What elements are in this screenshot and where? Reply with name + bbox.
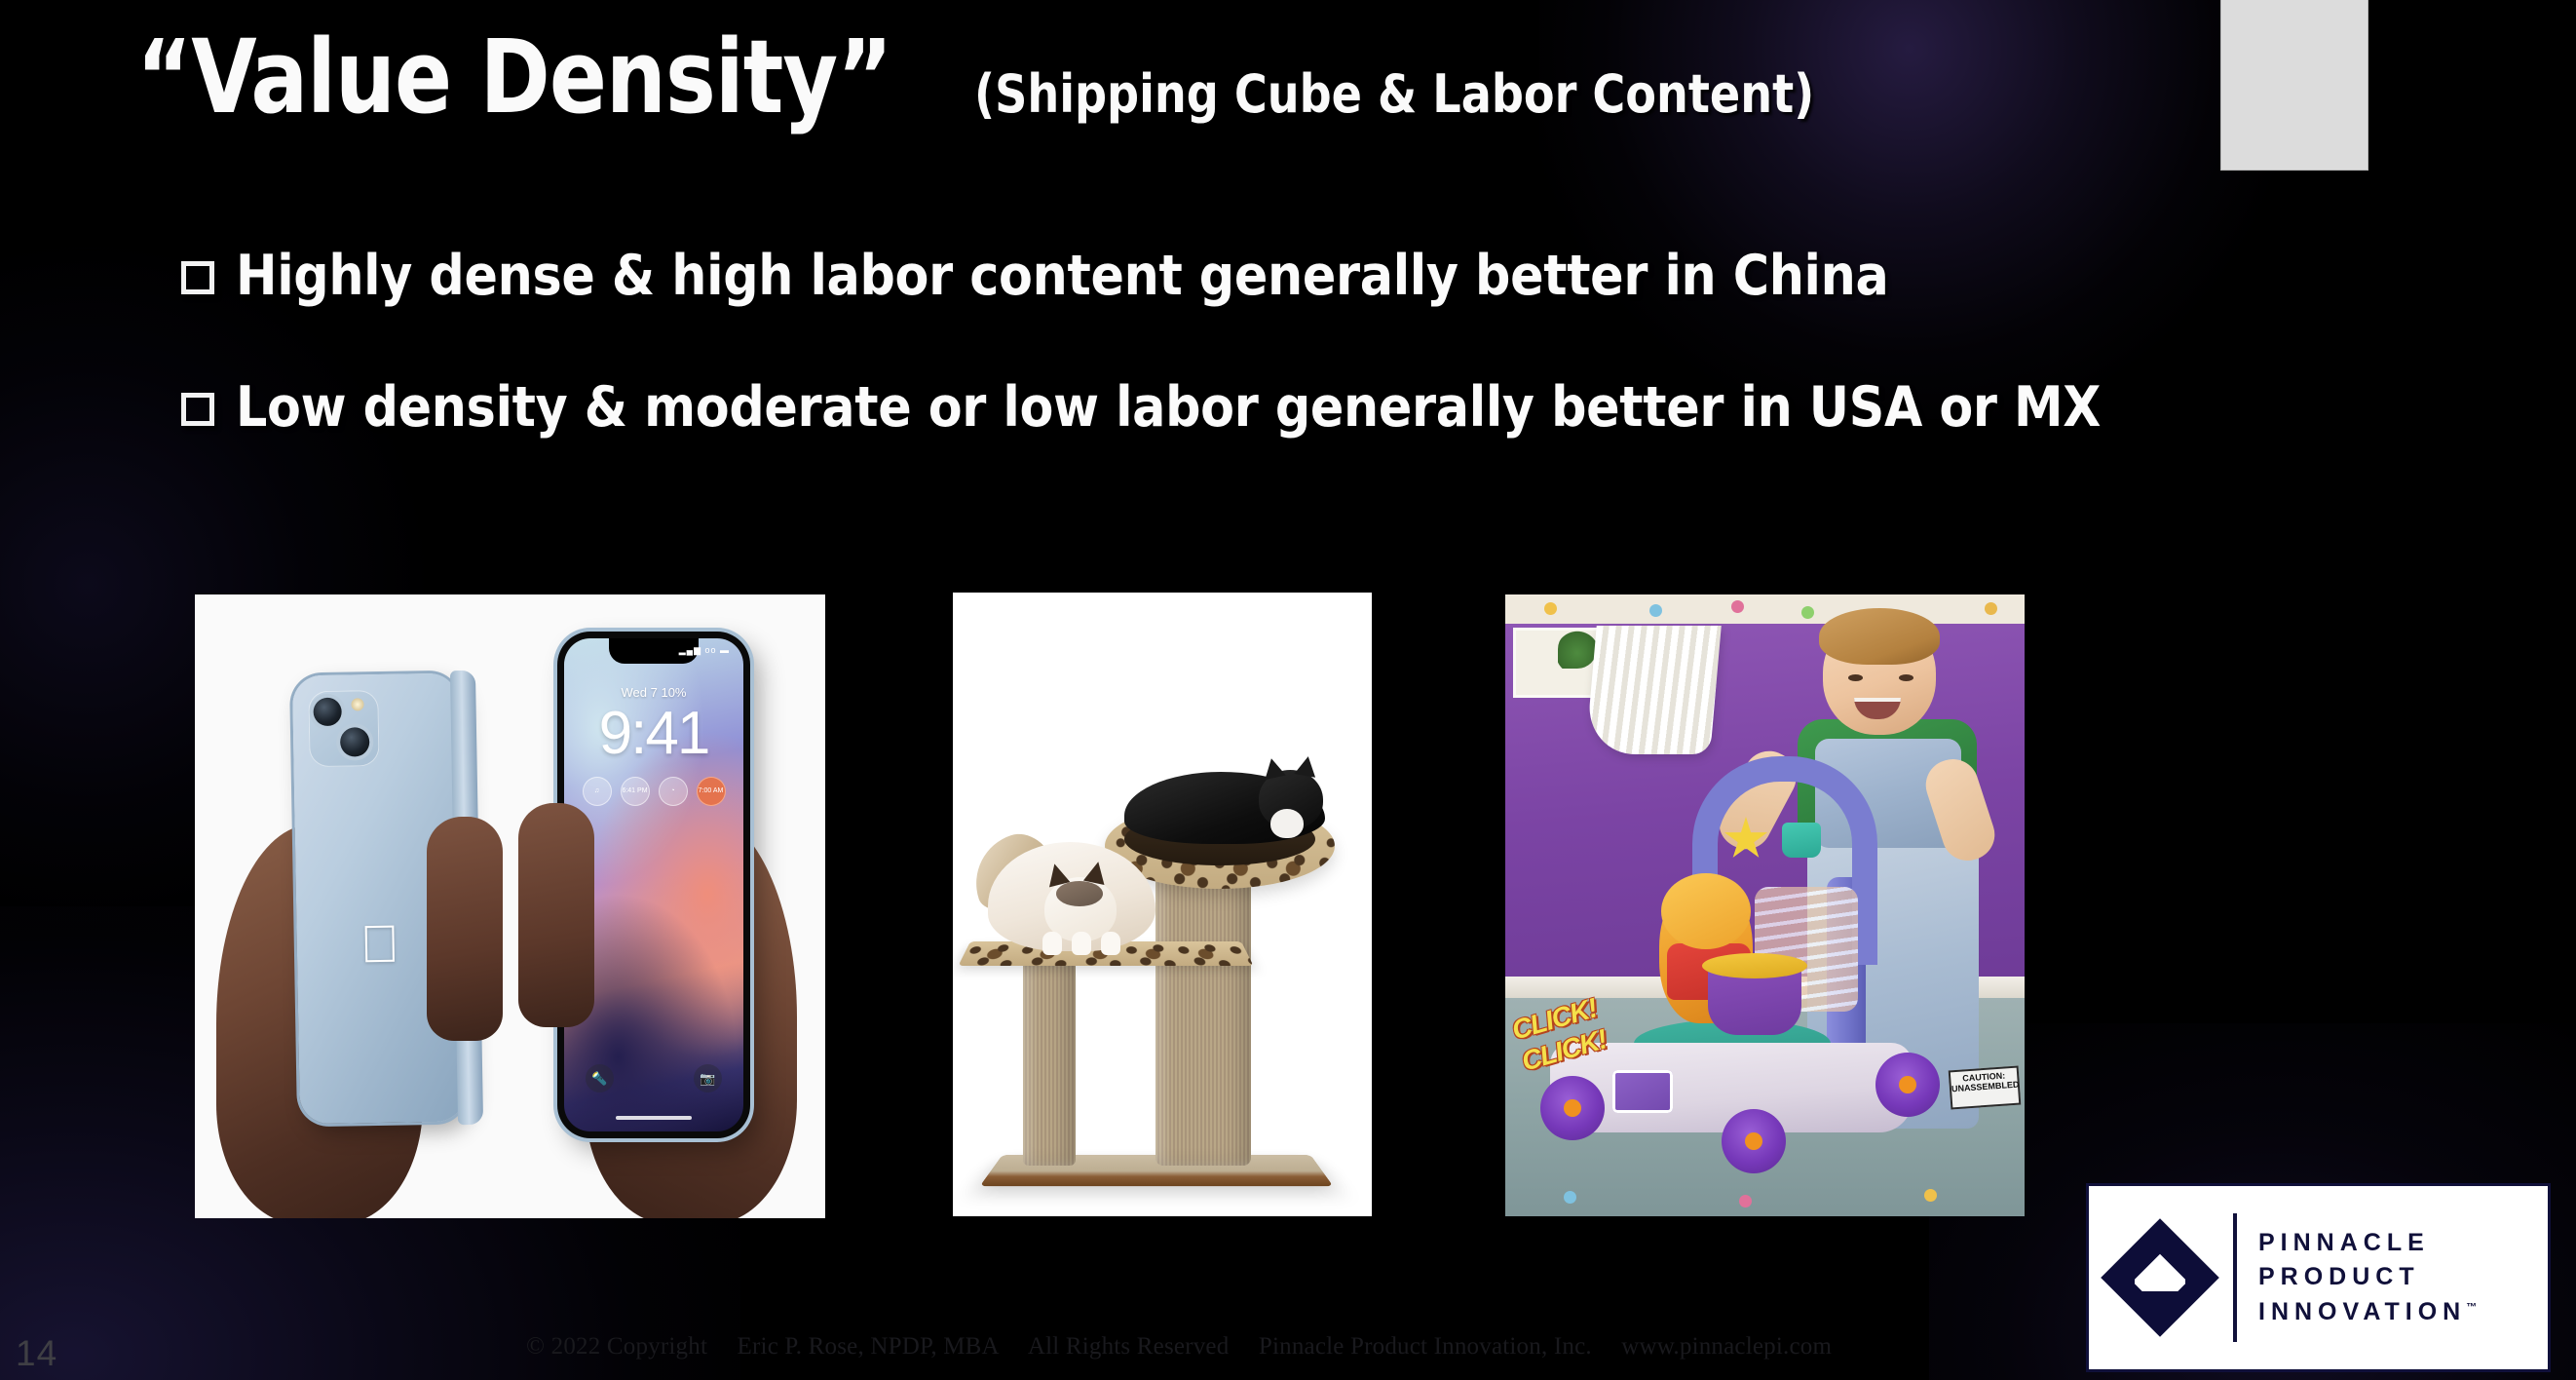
status-bar: ▂▄▆ ᴏᴏ ▬ xyxy=(679,645,730,656)
confetti-dot xyxy=(1739,1195,1752,1207)
logo-line-pinnacle: PINNACLE xyxy=(2258,1226,2477,1261)
title-main-text: “Value Density” xyxy=(136,25,891,129)
home-indicator xyxy=(616,1116,692,1120)
photo-iphone-in-hands:  ▂▄▆ ᴏᴏ ▬ Wed 7 10% 9:41 ♫ 6:41 PM ◔ 7:… xyxy=(195,594,825,1218)
cream-cat-paw xyxy=(1101,932,1120,955)
bullet-item-1: Highly dense & high labor content genera… xyxy=(181,246,2471,307)
cat-tree-post-left xyxy=(1023,961,1076,1166)
cream-cat-paw xyxy=(1042,932,1062,955)
footer-copyright-line: © 2022 Copyright Eric P. Rose, NPDP, MBA… xyxy=(526,1333,1855,1361)
trademark-symbol: ™ xyxy=(2466,1301,2477,1313)
slide-number: 14 xyxy=(16,1333,57,1374)
right-hand-fingers xyxy=(518,803,594,1027)
black-cat-bib xyxy=(1270,809,1304,838)
camera-lens-icon xyxy=(340,727,370,757)
plant xyxy=(1558,630,1597,669)
honey-pot-lid xyxy=(1702,953,1807,978)
photo-baby-walker: CLICK! CLICK! CAUTION: UNASSEMBLED xyxy=(1505,594,2025,1216)
flash-icon xyxy=(351,698,363,710)
left-hand-fingers xyxy=(427,817,503,1041)
lockscreen-shortcut-row: 🔦 📷 xyxy=(564,1064,743,1092)
confetti-dot xyxy=(1731,600,1744,613)
wheel-hub xyxy=(1564,1099,1581,1117)
decorative-gray-block xyxy=(2220,0,2368,171)
curtain xyxy=(1585,626,1722,754)
confetti-dot xyxy=(1924,1189,1937,1202)
bullet-item-1-label: Highly dense & high labor content genera… xyxy=(236,246,1888,307)
wheel-hub xyxy=(1745,1132,1762,1150)
lockscreen-battery-text: 10% xyxy=(661,685,686,700)
title-subtitle-text: (Shipping Cube & Labor Content) xyxy=(974,63,1814,125)
widget-clock: 6:41 PM xyxy=(621,777,650,806)
footer-website: www.pinnaclepi.com xyxy=(1621,1333,1832,1360)
lockscreen-date-text: Wed 7 xyxy=(622,685,658,700)
cat-tree-post-right xyxy=(1155,873,1251,1166)
cream-cat-face-mask xyxy=(1056,881,1103,906)
widget-weather: ◔ xyxy=(659,777,688,806)
confetti-dot xyxy=(1649,604,1662,617)
widget-music: ♫ xyxy=(583,777,612,806)
baby-hair xyxy=(1819,608,1940,665)
photo-cat-tree xyxy=(953,593,1372,1216)
ceiling-band xyxy=(1505,594,2025,624)
lockscreen-date: Wed 7 10% xyxy=(564,685,743,700)
baby-eye xyxy=(1848,674,1863,681)
bullet-item-2-label: Low density & moderate or low labor gene… xyxy=(236,377,2101,439)
activity-panel xyxy=(1612,1070,1673,1113)
slide-canvas: “Value Density” (Shipping Cube & Labor C… xyxy=(0,0,2576,1380)
cup-toy-icon xyxy=(1782,823,1821,858)
pooh-head xyxy=(1661,873,1751,949)
camera-icon: 📷 xyxy=(694,1064,722,1092)
logo-divider xyxy=(2233,1213,2237,1342)
pinnacle-logo: PINNACLE PRODUCT INNOVATION™ xyxy=(2086,1183,2551,1372)
lockscreen-time: 9:41 xyxy=(564,699,743,768)
hollow-square-bullet-icon xyxy=(181,393,214,426)
logo-line-innovation: INNOVATION™ xyxy=(2258,1295,2477,1330)
flashlight-icon: 🔦 xyxy=(586,1064,614,1092)
footer-author: Eric P. Rose, NPDP, MBA xyxy=(738,1333,1000,1360)
black-cat-ear xyxy=(1294,754,1318,778)
bullet-item-2: Low density & moderate or low labor gene… xyxy=(181,377,2471,439)
apple-logo-icon:  xyxy=(360,918,399,972)
camera-island xyxy=(308,690,379,767)
cream-cat-paw xyxy=(1072,932,1091,955)
chevron-cutout-icon xyxy=(2135,1241,2185,1291)
hollow-square-bullet-icon xyxy=(181,261,214,294)
caution-label: CAUTION: UNASSEMBLED xyxy=(1949,1066,2022,1110)
cream-cat-ear xyxy=(1083,860,1109,885)
slide-title: “Value Density” (Shipping Cube & Labor C… xyxy=(136,25,2202,129)
footer-rights: All Rights Reserved xyxy=(1028,1333,1230,1360)
logo-innovation-text: INNOVATION xyxy=(2258,1298,2466,1325)
baby-eye xyxy=(1899,674,1913,681)
camera-lens-icon xyxy=(313,698,342,727)
confetti-dot xyxy=(1544,602,1557,615)
confetti-dot xyxy=(1985,602,1997,615)
confetti-dot xyxy=(1801,606,1814,619)
footer-copyright: © 2022 Copyright xyxy=(526,1333,707,1360)
widget-alarm: 7:00 AM xyxy=(697,777,726,806)
wheel-hub xyxy=(1899,1076,1916,1093)
lockscreen-widget-row: ♫ 6:41 PM ◔ 7:00 AM xyxy=(564,777,743,806)
confetti-dot xyxy=(1564,1191,1576,1204)
logo-line-product: PRODUCT xyxy=(2258,1260,2477,1295)
pinnacle-diamond-icon xyxy=(2102,1220,2217,1335)
logo-wordmark: PINNACLE PRODUCT INNOVATION™ xyxy=(2258,1226,2477,1330)
bullet-list: Highly dense & high labor content genera… xyxy=(181,246,2471,508)
footer-company: Pinnacle Product Innovation, Inc. xyxy=(1259,1333,1592,1360)
